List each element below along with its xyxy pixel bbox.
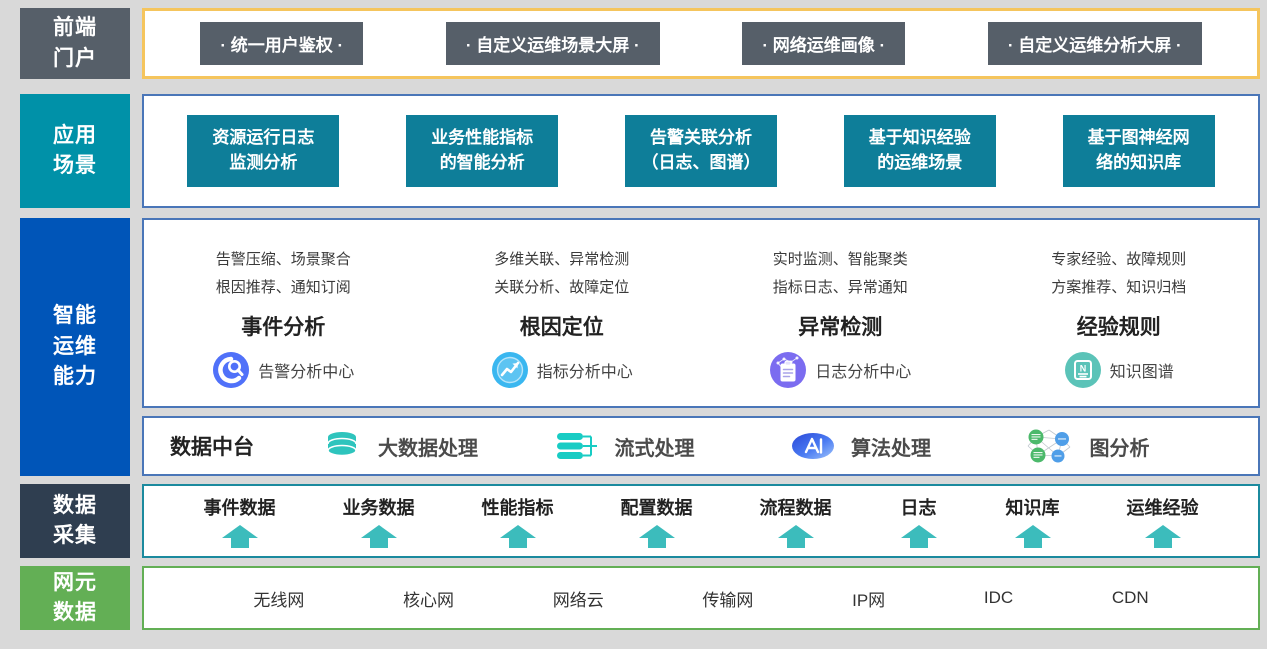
ability-bullets: 告警压缩、场景聚合 根因推荐、通知订阅 <box>216 246 351 302</box>
ability-product-name: 知识图谱 <box>1110 358 1174 382</box>
collection-item-name: 业务数据 <box>343 494 415 520</box>
ability-product-metric-analysis-center[interactable]: 指标分析中心 <box>491 351 633 389</box>
network-element-item-core[interactable]: 核心网 <box>403 586 454 611</box>
app-card-line-1: 资源运行日志 <box>212 126 314 151</box>
midplatform-item-name: 算法处理 <box>851 432 931 461</box>
collection-item-process-data[interactable]: 流程数据 <box>760 494 832 548</box>
ability-product-name: 指标分析中心 <box>537 358 633 382</box>
log-analysis-icon <box>769 351 807 389</box>
midplatform-item-bigdata[interactable]: 大数据处理 <box>320 429 555 463</box>
graph-network-icon <box>1024 427 1076 465</box>
application-panel: 资源运行日志 监测分析 业务性能指标 的智能分析 告警关联分析 （日志、图谱） … <box>142 94 1260 208</box>
collection-item-log[interactable]: 日志 <box>899 494 939 548</box>
ability-stack: 告警压缩、场景聚合 根因推荐、通知订阅 事件分析 <box>142 218 1260 476</box>
app-card-resource-log[interactable]: 资源运行日志 监测分析 <box>187 115 339 187</box>
portal-chip-custom-ops-dashboard[interactable]: · 自定义运维场景大屏 · <box>446 22 660 65</box>
up-arrow-icon <box>637 524 677 548</box>
app-card-line-1: 业务性能指标 <box>431 126 533 151</box>
collection-row-label: 数据 采集 <box>20 484 130 558</box>
midplatform-item-graph[interactable]: 图分析 <box>1024 427 1259 465</box>
ability-bullet-1: 专家经验、故障规则 <box>1051 246 1186 274</box>
up-arrow-icon <box>359 524 399 548</box>
application-row-label: 应用 场景 <box>20 94 130 208</box>
ability-bullet-2: 根因推荐、通知订阅 <box>216 274 351 302</box>
ability-bullet-1: 告警压缩、场景聚合 <box>216 246 351 274</box>
collection-item-name: 流程数据 <box>760 494 832 520</box>
ability-bullet-2: 指标日志、异常通知 <box>773 274 908 302</box>
app-card-knowledge-experience[interactable]: 基于知识经验 的运维场景 <box>844 115 996 187</box>
collection-item-name: 性能指标 <box>482 494 554 520</box>
portal-chip-custom-analysis-dashboard[interactable]: · 自定义运维分析大屏 · <box>988 22 1202 65</box>
portal-label-line-2: 门户 <box>53 44 97 74</box>
network-element-label-line-1: 网元 <box>53 568 97 598</box>
network-element-item-ip[interactable]: IP网 <box>852 586 885 611</box>
app-card-graph-neural-network[interactable]: 基于图神经网 络的知识库 <box>1063 115 1215 187</box>
ability-bullet-1: 多维关联、异常检测 <box>494 246 629 274</box>
portal-row: 前端 门户 · 统一用户鉴权 · · 自定义运维场景大屏 · · 网络运维画像 … <box>20 8 1260 79</box>
midplatform-item-name: 大数据处理 <box>378 432 478 461</box>
ability-bullets: 实时监测、智能聚类 指标日志、异常通知 <box>773 246 908 302</box>
up-arrow-icon <box>1013 524 1053 548</box>
collection-item-business-data[interactable]: 业务数据 <box>343 494 415 548</box>
ability-panel: 告警压缩、场景聚合 根因推荐、通知订阅 事件分析 <box>142 218 1260 408</box>
app-card-line-2: 络的知识库 <box>1096 151 1181 176</box>
data-midplatform-panel: 数据中台 大数据处理 <box>142 416 1260 476</box>
ability-title: 根因定位 <box>520 311 604 341</box>
midplatform-item-name: 图分析 <box>1090 432 1150 461</box>
ability-bullet-2: 关联分析、故障定位 <box>494 274 629 302</box>
collection-item-knowledge-base[interactable]: 知识库 <box>1006 494 1060 548</box>
up-arrow-icon <box>498 524 538 548</box>
ability-product-name: 日志分析中心 <box>815 358 911 382</box>
network-element-item-idc[interactable]: IDC <box>984 588 1013 608</box>
portal-chip-network-ops-profile[interactable]: · 网络运维画像 · <box>742 22 905 65</box>
app-card-line-2: （日志、图谱） <box>641 151 760 176</box>
ability-column-root-cause: 多维关联、异常检测 关联分析、故障定位 根因定位 <box>423 220 702 406</box>
collection-item-config-data[interactable]: 配置数据 <box>621 494 693 548</box>
ability-bullet-1: 实时监测、智能聚类 <box>773 246 908 274</box>
architecture-diagram: 前端 门户 · 统一用户鉴权 · · 自定义运维场景大屏 · · 网络运维画像 … <box>0 0 1267 649</box>
portal-panel: · 统一用户鉴权 · · 自定义运维场景大屏 · · 网络运维画像 · · 自定… <box>142 8 1260 79</box>
collection-label-line-1: 数据 <box>53 491 97 521</box>
ability-product-name: 告警分析中心 <box>258 358 354 382</box>
collection-item-name: 事件数据 <box>204 494 276 520</box>
ai-icon <box>789 429 837 463</box>
application-label-line-1: 应用 <box>53 121 97 151</box>
app-card-line-1: 基于图神经网 <box>1088 126 1190 151</box>
midplatform-item-algorithm[interactable]: 算法处理 <box>789 429 1024 463</box>
network-element-item-network-cloud[interactable]: 网络云 <box>553 586 604 611</box>
ability-column-experience-rules: 专家经验、故障规则 方案推荐、知识归档 经验规则 N <box>980 220 1259 406</box>
up-arrow-icon <box>776 524 816 548</box>
app-card-business-performance[interactable]: 业务性能指标 的智能分析 <box>406 115 558 187</box>
ability-label-line-3: 能力 <box>53 362 97 392</box>
ability-product-log-analysis-center[interactable]: 日志分析中心 <box>769 351 911 389</box>
stream-icon <box>555 429 601 463</box>
application-row: 应用 场景 资源运行日志 监测分析 业务性能指标 的智能分析 告警关联分析 （日… <box>20 94 1260 208</box>
data-midplatform-heading: 数据中台 <box>170 431 320 461</box>
network-element-item-transport[interactable]: 传输网 <box>702 586 753 611</box>
ability-bullets: 专家经验、故障规则 方案推荐、知识归档 <box>1051 246 1186 302</box>
ability-product-knowledge-graph[interactable]: N 知识图谱 <box>1064 351 1174 389</box>
ability-label-line-2: 运维 <box>53 332 97 362</box>
collection-panel: 事件数据 业务数据 性能指标 配置数据 <box>142 484 1260 558</box>
ability-product-alarm-analysis-center[interactable]: 告警分析中心 <box>212 351 354 389</box>
ability-title: 经验规则 <box>1077 311 1161 341</box>
app-card-line-1: 基于知识经验 <box>869 126 971 151</box>
network-element-panel: 无线网 核心网 网络云 传输网 IP网 IDC CDN <box>142 566 1260 630</box>
app-card-line-2: 监测分析 <box>229 151 297 176</box>
up-arrow-icon <box>1143 524 1183 548</box>
ability-bullets: 多维关联、异常检测 关联分析、故障定位 <box>494 246 629 302</box>
ability-column-event-analysis: 告警压缩、场景聚合 根因推荐、通知订阅 事件分析 <box>144 220 423 406</box>
network-element-label-line-2: 数据 <box>53 598 97 628</box>
network-element-row-label: 网元 数据 <box>20 566 130 630</box>
portal-label-line-1: 前端 <box>53 13 97 43</box>
midplatform-item-name: 流式处理 <box>615 432 695 461</box>
app-card-line-2: 的运维场景 <box>877 151 962 176</box>
ability-column-anomaly-detection: 实时监测、智能聚类 指标日志、异常通知 异常检测 <box>701 220 980 406</box>
collection-row: 数据 采集 事件数据 业务数据 性能指标 <box>20 484 1260 558</box>
collection-label-line-2: 采集 <box>53 521 97 551</box>
collection-item-event-data[interactable]: 事件数据 <box>204 494 276 548</box>
network-element-item-cdn[interactable]: CDN <box>1112 588 1149 608</box>
portal-chip-unified-auth[interactable]: · 统一用户鉴权 · <box>200 22 363 65</box>
portal-row-label: 前端 门户 <box>20 8 130 79</box>
up-arrow-icon <box>899 524 939 548</box>
application-label-line-2: 场景 <box>53 151 97 181</box>
app-card-line-2: 的智能分析 <box>440 151 525 176</box>
ability-title: 异常检测 <box>798 311 882 341</box>
ability-row: 智能 运维 能力 告警压缩、场景聚合 根因推荐、通知订阅 事件分析 <box>20 218 1260 476</box>
database-icon <box>320 429 364 463</box>
app-card-alarm-correlation[interactable]: 告警关联分析 （日志、图谱） <box>625 115 777 187</box>
collection-item-name: 运维经验 <box>1127 494 1199 520</box>
network-element-item-wireless[interactable]: 无线网 <box>253 586 304 611</box>
network-element-row: 网元 数据 无线网 核心网 网络云 传输网 IP网 IDC CDN <box>20 566 1260 630</box>
ability-bullet-2: 方案推荐、知识归档 <box>1051 274 1186 302</box>
app-card-line-1: 告警关联分析 <box>650 126 752 151</box>
up-arrow-icon <box>220 524 260 548</box>
ability-title: 事件分析 <box>241 311 325 341</box>
alarm-analysis-icon <box>212 351 250 389</box>
midplatform-item-stream[interactable]: 流式处理 <box>555 429 790 463</box>
svg-text:N: N <box>1079 363 1086 373</box>
knowledge-graph-icon: N <box>1064 351 1102 389</box>
ability-row-label: 智能 运维 能力 <box>20 218 130 476</box>
collection-item-name: 知识库 <box>1006 494 1060 520</box>
collection-item-name: 配置数据 <box>621 494 693 520</box>
ability-label-line-1: 智能 <box>53 301 97 331</box>
collection-item-ops-experience[interactable]: 运维经验 <box>1127 494 1199 548</box>
collection-item-performance-metric[interactable]: 性能指标 <box>482 494 554 548</box>
collection-item-name: 日志 <box>901 494 937 520</box>
metric-analysis-icon <box>491 351 529 389</box>
